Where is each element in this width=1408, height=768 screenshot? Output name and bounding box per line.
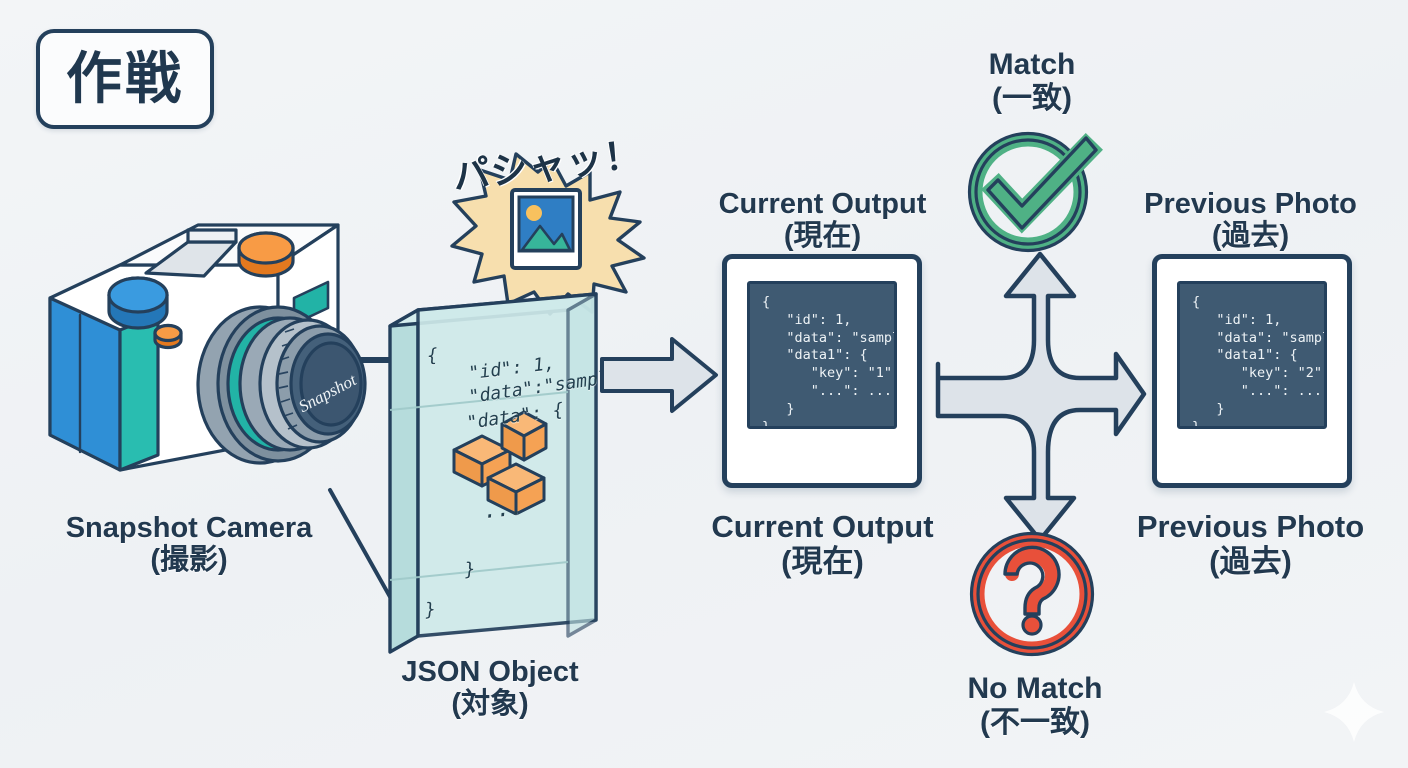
- match-caption: Match (一致): [952, 48, 1112, 115]
- previous-photo-caption-top-jp: (過去): [1118, 220, 1383, 252]
- current-output-caption-bottom-en: Current Output: [690, 510, 955, 545]
- no-match-label-jp: (不一致): [940, 706, 1130, 740]
- current-output-caption-bottom-jp: (現在): [690, 545, 955, 580]
- diagram-canvas: 作戦: [0, 0, 1408, 768]
- current-output-code: { "id": 1, "data": "sample", "data1": { …: [747, 281, 897, 429]
- match-label-en: Match: [952, 48, 1112, 82]
- previous-photo-caption-top: Previous Photo (過去): [1118, 188, 1383, 253]
- json-object-glass-panel: { "id": 1, "data":"sample" "data": { ...…: [384, 280, 634, 650]
- previous-photo-code: { "id": 1, "data": "sample", "data1": { …: [1177, 281, 1327, 429]
- glass-code-line-8: }: [424, 599, 437, 621]
- match-label-jp: (一致): [952, 82, 1112, 116]
- camera-caption: Snapshot Camera (撮影): [24, 512, 354, 577]
- title-badge-label: 作戦: [66, 51, 184, 107]
- previous-photo-card[interactable]: { "id": 1, "data": "sample", "data1": { …: [1152, 254, 1352, 488]
- snapshot-camera-illustration: Snapshot: [28, 170, 388, 490]
- arrow-glass-to-current: [600, 333, 720, 417]
- no-match-caption: No Match (不一致): [940, 672, 1130, 739]
- current-output-caption-top: Current Output (現在): [690, 188, 955, 253]
- check-circle-icon: [962, 128, 1102, 258]
- json-object-caption-en: JSON Object: [360, 656, 620, 688]
- glass-code-line-0: {: [426, 345, 439, 367]
- branch-arrow: [930, 252, 1150, 542]
- question-circle-icon: [962, 530, 1102, 665]
- no-match-label-en: No Match: [940, 672, 1130, 706]
- sparkle-icon: [1322, 680, 1386, 744]
- previous-photo-caption-bottom: Previous Photo (過去): [1118, 510, 1383, 579]
- photo-image-icon: [510, 188, 582, 270]
- current-output-caption-bottom: Current Output (現在): [690, 510, 955, 579]
- current-output-photo-card[interactable]: { "id": 1, "data": "sample", "data1": { …: [722, 254, 922, 488]
- glass-code-line-7: }: [442, 559, 477, 583]
- json-object-caption-jp: (対象): [360, 688, 620, 720]
- camera-caption-en: Snapshot Camera: [24, 512, 354, 544]
- current-output-caption-top-jp: (現在): [690, 220, 955, 252]
- previous-photo-caption-bottom-jp: (過去): [1118, 545, 1383, 580]
- title-badge: 作戦: [36, 29, 214, 129]
- camera-caption-jp: (撮影): [24, 544, 354, 576]
- json-object-caption: JSON Object (対象): [360, 656, 620, 721]
- previous-photo-caption-top-en: Previous Photo: [1118, 188, 1383, 220]
- current-output-caption-top-en: Current Output: [690, 188, 955, 220]
- previous-photo-caption-bottom-en: Previous Photo: [1118, 510, 1383, 545]
